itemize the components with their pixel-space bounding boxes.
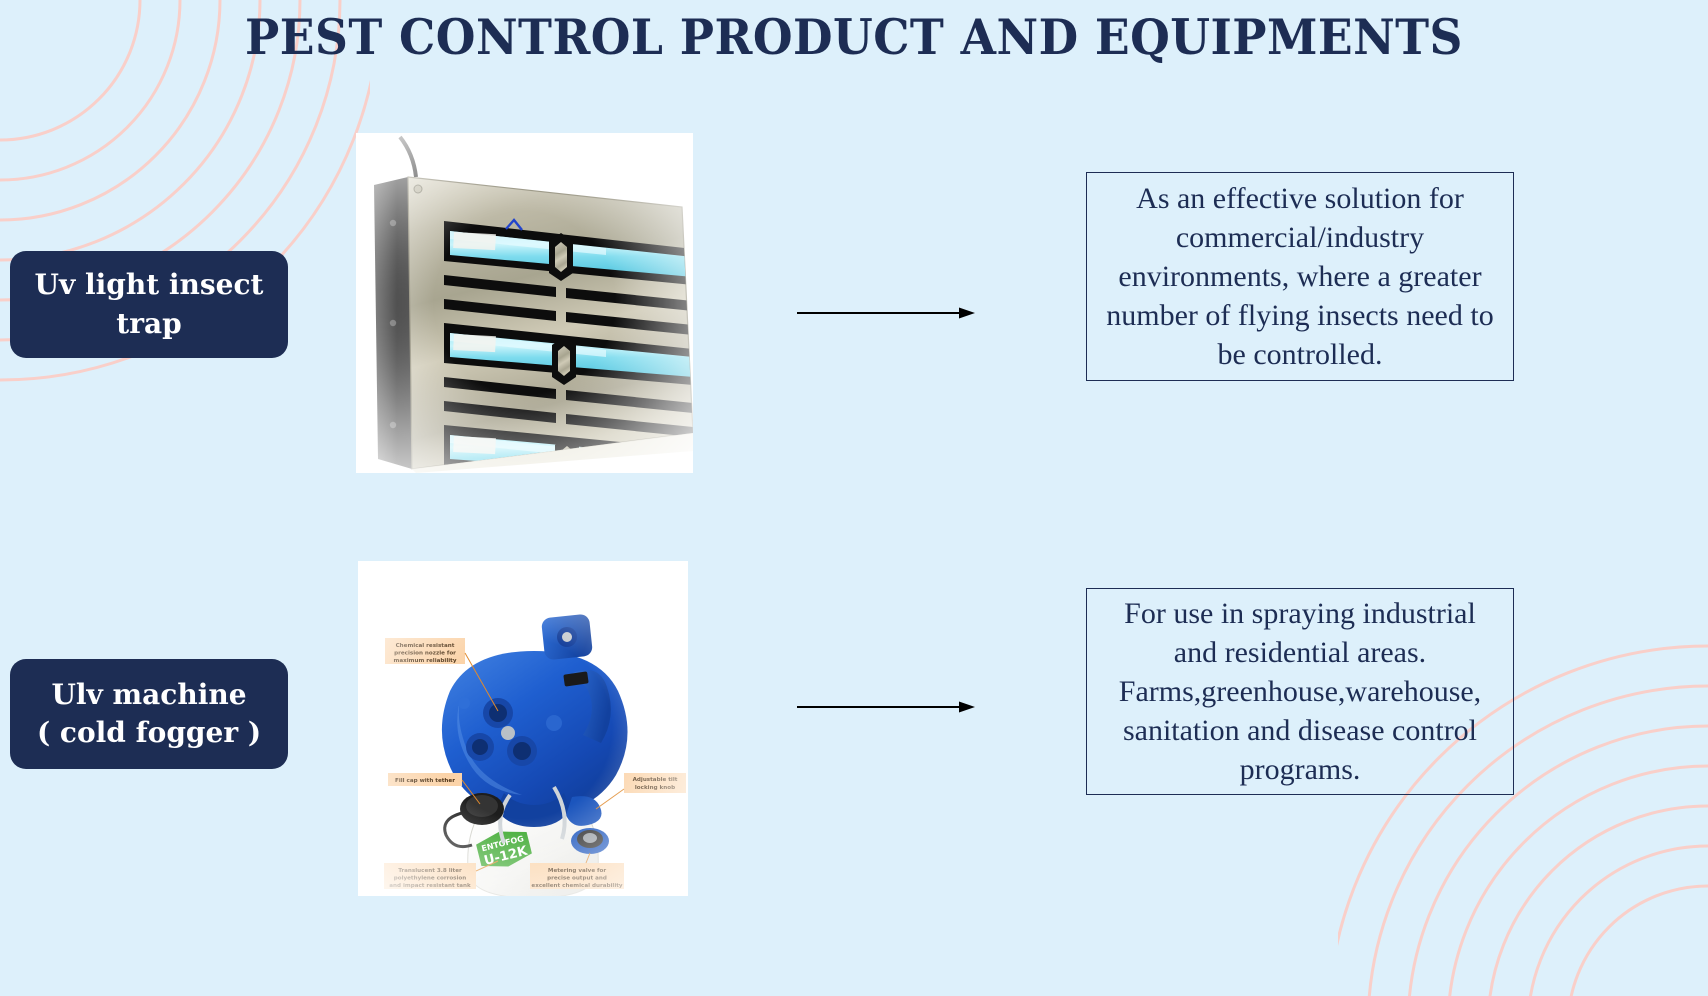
product-label-line-1: Uv light insect [35, 266, 264, 304]
svg-text:precise output and: precise output and [547, 876, 607, 882]
slide-canvas: PEST CONTROL PRODUCT AND EQUIPMENTS Uv l… [0, 0, 1708, 996]
svg-text:excellent chemical durability: excellent chemical durability [531, 883, 622, 889]
svg-text:precision nozzle for: precision nozzle for [394, 651, 456, 657]
svg-text:Adjustable tilt: Adjustable tilt [633, 777, 678, 783]
svg-text:maximum reliability: maximum reliability [394, 658, 457, 664]
product-image-uv-light-insect-trap [356, 133, 693, 473]
product-image-ulv-cold-fogger: ENTOFOG U-12K [358, 561, 688, 896]
product-label-line-2: trap [35, 305, 264, 343]
product-description-uv-light-insect-trap: As an effective solution for commercial/… [1086, 172, 1514, 381]
svg-text:Metering valve for: Metering valve for [548, 868, 606, 874]
uv-trap-illustration [356, 133, 693, 473]
svg-text:and impact resistant tank: and impact resistant tank [389, 883, 471, 889]
product-description-ulv-cold-fogger: For use in spraying industrial and resid… [1086, 588, 1514, 795]
product-label-ulv-machine[interactable]: Ulv machine ( cold fogger ) [10, 659, 288, 769]
svg-text:polyethylene corrosion: polyethylene corrosion [394, 876, 467, 882]
svg-text:locking knob: locking knob [635, 785, 675, 791]
arrow-uv-row [795, 300, 975, 326]
page-title: PEST CONTROL PRODUCT AND EQUIPMENTS [60, 8, 1648, 66]
svg-text:Chemical resistant: Chemical resistant [396, 643, 455, 649]
product-label-line-2: ( cold fogger ) [37, 714, 261, 752]
product-label-uv-light-insect-trap[interactable]: Uv light insect trap [10, 251, 288, 358]
ulv-fogger-illustration: ENTOFOG U-12K [358, 561, 688, 896]
arrow-ulv-row [795, 694, 975, 720]
product-label-line-1: Ulv machine [37, 676, 261, 714]
svg-text:Fill cap with tether: Fill cap with tether [395, 778, 455, 784]
svg-text:Translucent 3.8 liter: Translucent 3.8 liter [398, 868, 462, 874]
